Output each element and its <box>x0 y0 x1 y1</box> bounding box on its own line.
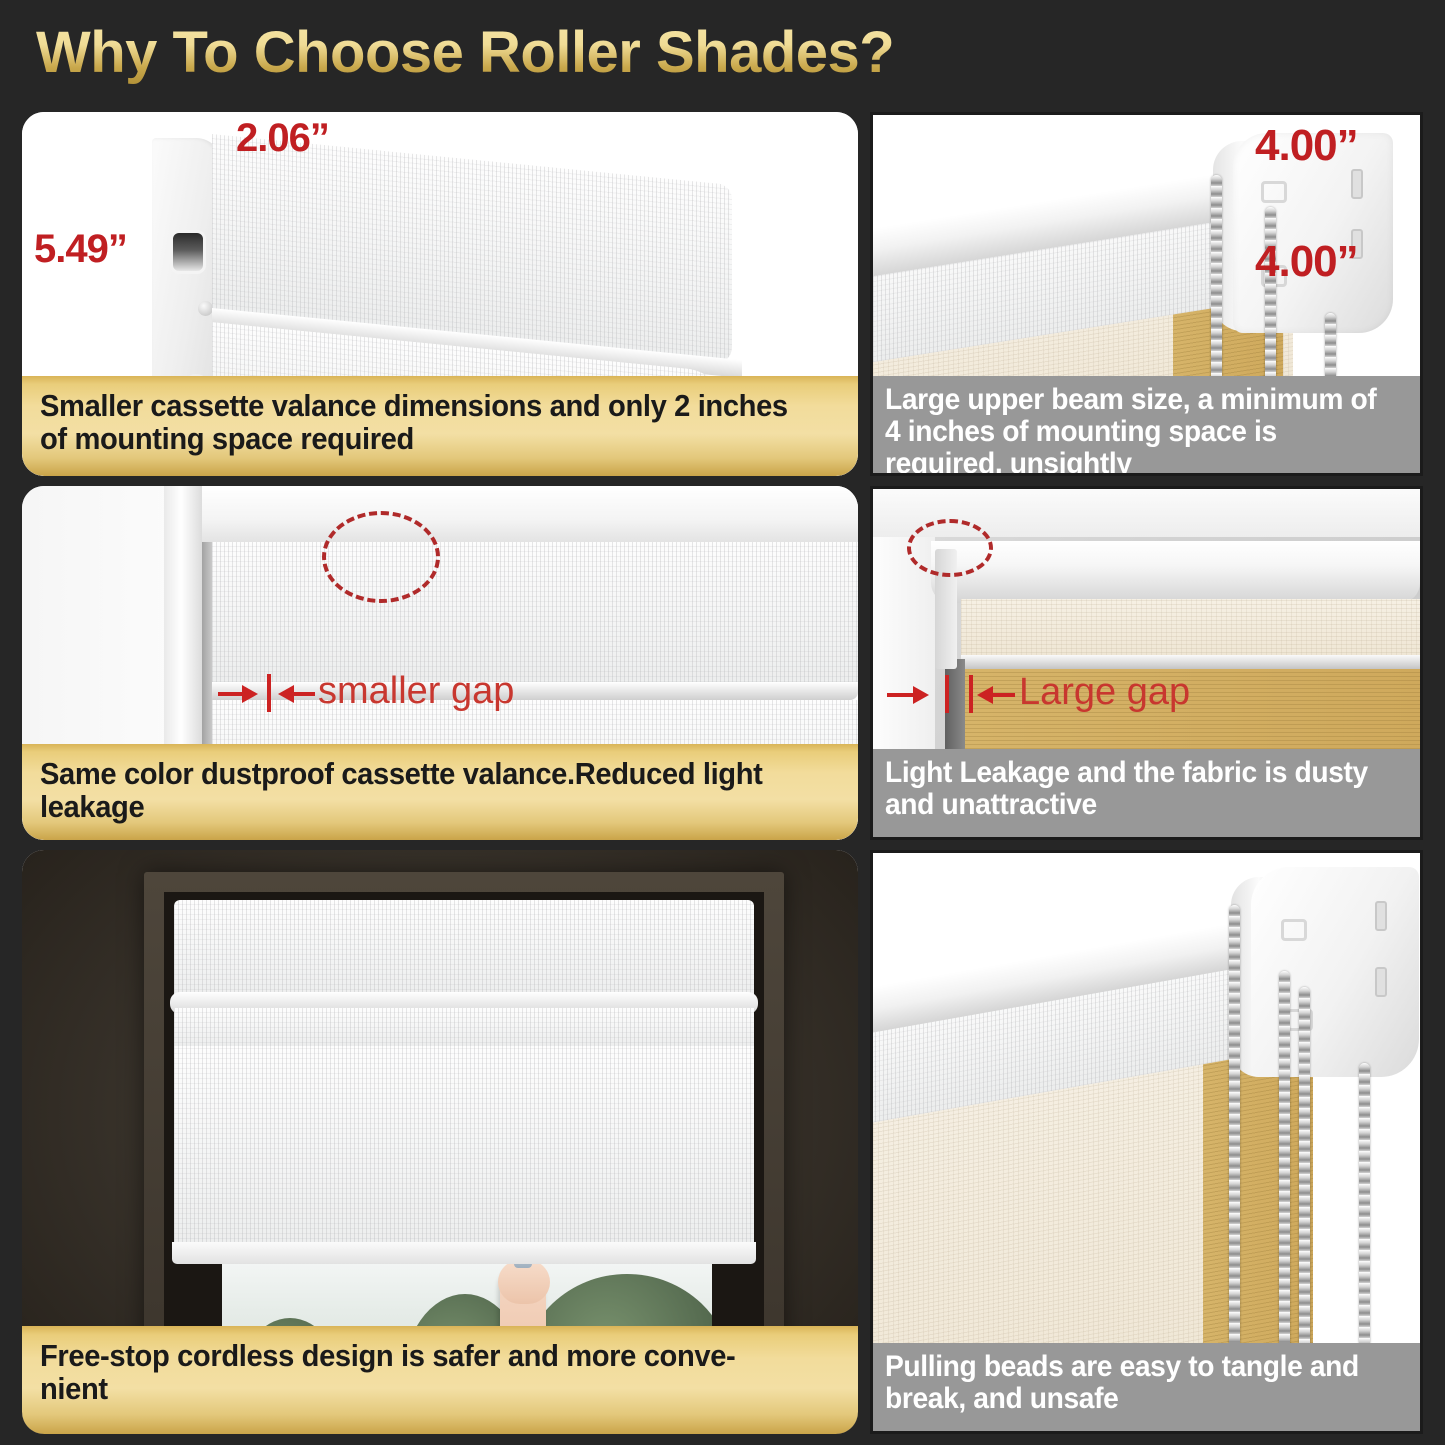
panel-pro-dustproof-valance[interactable]: smaller gap Same color dustproof cassett… <box>22 486 858 840</box>
bead-chain-left <box>1211 175 1222 387</box>
caption-text: Light Leakage and the fabric is dusty an… <box>885 757 1377 821</box>
gap-arrow-stem-left <box>887 693 915 697</box>
gap-measure-bar-left <box>945 675 949 713</box>
dim-tick-right <box>22 131 25 149</box>
caption-bar-pro-cassette-size: Smaller cassette valance dimensions and … <box>22 376 858 476</box>
dimension-label-beam-width: 4.00” <box>1255 121 1358 171</box>
window-frame-top <box>190 486 858 542</box>
hand-fingers <box>498 1264 550 1304</box>
page-title: Why To Choose Roller Shades? <box>36 19 894 86</box>
bracket-clip-upper-icon <box>1281 919 1307 941</box>
gap-arrow-stem-right <box>293 692 315 696</box>
gap-label-smaller: smaller gap <box>318 670 514 713</box>
gap-arrow-right-icon <box>913 686 929 704</box>
dim-tick-right-top <box>873 144 876 182</box>
gap-arrow-stem-right <box>991 693 1015 697</box>
bead-chain-left <box>1229 905 1240 1395</box>
valance-lower-face <box>174 1008 754 1048</box>
bead-chain-mid2 <box>1299 987 1310 1395</box>
gap-arrow-right-icon <box>242 685 258 703</box>
gap-measure-bar-right <box>969 675 973 713</box>
bracket-slot-lower-icon <box>1375 967 1387 997</box>
dimension-label-height: 5.49” <box>34 227 127 272</box>
bracket-clip-upper-icon <box>1261 181 1287 203</box>
competitor-rail <box>961 655 1420 669</box>
bracket-slot-icon <box>170 230 206 274</box>
caption-bar-con-pulling-beads: Pulling beads are easy to tangle and bre… <box>873 1343 1420 1431</box>
highlight-ellipse-icon <box>907 519 993 577</box>
caption-text: Same color dustproof cassette valance.Re… <box>40 758 792 824</box>
competitor-fabric-cream <box>961 599 1420 657</box>
dim-line-beam-width <box>873 141 1021 144</box>
caption-bar-con-large-beam: Large upper beam size, a minimum of 4 in… <box>873 376 1420 473</box>
gap-arrow-stem-left <box>218 692 244 696</box>
bead-chain-mid <box>1279 971 1290 1395</box>
highlight-ellipse-icon <box>322 511 440 603</box>
panel-con-pulling-beads[interactable]: Pulling beads are easy to tangle and bre… <box>870 850 1423 1434</box>
bracket-slot-upper-icon <box>1375 901 1387 931</box>
caption-bar-pro-dustproof-valance: Same color dustproof cassette valance.Re… <box>22 744 858 840</box>
comparison-grid: 2.06” 5.49” Smaller cassette valance dim… <box>0 104 1445 1445</box>
bracket-screw-small-icon <box>198 301 213 316</box>
panel-con-large-beam[interactable]: 4.00” 4.00” Large upper beam size, a min… <box>870 112 1423 476</box>
shade-fabric <box>174 1046 754 1254</box>
competitor-large-bracket <box>1251 867 1419 1077</box>
caption-text: Large upper beam size, a minimum of 4 in… <box>885 384 1377 476</box>
cassette-valance <box>174 900 754 1000</box>
competitor-roller-tube <box>931 541 1420 603</box>
shade-pull-tab <box>514 1264 532 1268</box>
gap-measure-bar <box>267 674 271 712</box>
dim-line-width <box>22 128 98 131</box>
bead-chain-mid <box>1265 207 1276 387</box>
caption-text: Pulling beads are easy to tangle and bre… <box>885 1351 1377 1415</box>
dimension-label-width: 2.06” <box>236 116 329 161</box>
dimension-label-beam-height: 4.00” <box>1255 237 1358 287</box>
gap-arrow-left-icon <box>278 685 294 703</box>
caption-bar-con-light-leakage: Light Leakage and the fabric is dusty an… <box>873 749 1420 837</box>
cassette-lip <box>202 682 858 700</box>
caption-text: Free-stop cordless design is safer and m… <box>40 1340 792 1406</box>
gap-label-large: Large gap <box>1019 671 1190 714</box>
panel-pro-cassette-size[interactable]: 2.06” 5.49” Smaller cassette valance dim… <box>22 112 858 476</box>
shade-bottom-bar <box>172 1242 756 1264</box>
page-header: Why To Choose Roller Shades? <box>0 0 1445 104</box>
cassette-valance <box>208 542 858 687</box>
panel-pro-cordless-design[interactable]: Free-stop cordless design is safer and m… <box>22 850 858 1434</box>
panel-con-light-leakage[interactable]: Large gap Light Leakage and the fabric i… <box>870 486 1423 840</box>
dim-tick-left <box>22 112 25 128</box>
bracket-slot-upper-icon <box>1351 169 1363 199</box>
caption-bar-pro-cordless-design: Free-stop cordless design is safer and m… <box>22 1326 858 1434</box>
dim-tick-left-top <box>873 115 876 141</box>
caption-text: Smaller cassette valance dimensions and … <box>40 390 792 456</box>
